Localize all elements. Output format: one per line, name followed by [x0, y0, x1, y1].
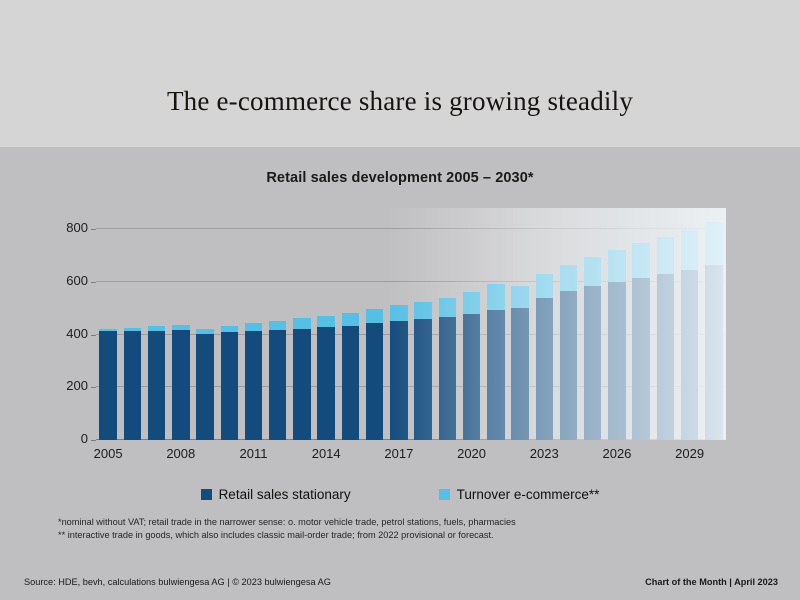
- x-tick-label: 2023: [519, 446, 569, 461]
- y-tick-label: 600: [28, 273, 88, 288]
- legend-swatch-icon: [439, 489, 450, 500]
- bar-segment-stationary: [632, 278, 649, 440]
- x-tick-label: 2026: [592, 446, 642, 461]
- bar-group[interactable]: [317, 316, 334, 440]
- bar-group[interactable]: [560, 265, 577, 440]
- bar-segment-stationary: [172, 330, 189, 440]
- bar-group[interactable]: [342, 313, 359, 440]
- bar-segment-stationary: [536, 298, 553, 440]
- bar-segment-ecommerce: [632, 243, 649, 278]
- bar-segment-stationary: [439, 317, 456, 440]
- bar-segment-ecommerce: [560, 265, 577, 291]
- bar-segment-stationary: [681, 270, 698, 440]
- bar-segment-ecommerce: [269, 321, 286, 330]
- bar-group[interactable]: [221, 326, 238, 440]
- y-tick-label: 0: [28, 431, 88, 446]
- y-tick-label: 800: [28, 220, 88, 235]
- bar-segment-stationary: [705, 265, 722, 440]
- bar-segment-stationary: [124, 331, 141, 440]
- bar-segment-ecommerce: [681, 230, 698, 270]
- bar-group[interactable]: [172, 325, 189, 440]
- bar-segment-stationary: [463, 314, 480, 440]
- bar-segment-ecommerce: [414, 302, 431, 319]
- bar-segment-ecommerce: [245, 323, 262, 330]
- bar-segment-ecommerce: [463, 292, 480, 314]
- bar-group[interactable]: [632, 243, 649, 440]
- issue-label: Chart of the Month | April 2023: [645, 577, 778, 587]
- y-tick-mark: [91, 440, 96, 441]
- bar-segment-ecommerce: [317, 316, 334, 328]
- bar-segment-stationary: [390, 321, 407, 440]
- legend-item[interactable]: Turnover e-commerce**: [439, 487, 600, 502]
- x-tick-label: 2005: [83, 446, 133, 461]
- bar-group[interactable]: [584, 257, 601, 440]
- bar-segment-stationary: [148, 331, 165, 440]
- x-tick-label: 2017: [374, 446, 424, 461]
- bar-group[interactable]: [196, 329, 213, 440]
- bar-segment-stationary: [608, 282, 625, 440]
- bar-segment-stationary: [196, 334, 213, 441]
- bar-group[interactable]: [269, 321, 286, 440]
- bar-group[interactable]: [293, 318, 310, 440]
- bar-segment-ecommerce: [536, 274, 553, 298]
- bar-group[interactable]: [366, 309, 383, 440]
- legend-label: Retail sales stationary: [219, 487, 351, 502]
- bar-segment-stationary: [414, 319, 431, 440]
- bar-segment-ecommerce: [390, 305, 407, 321]
- bar-group[interactable]: [705, 222, 722, 440]
- bar-segment-ecommerce: [608, 250, 625, 282]
- bar-segment-ecommerce: [439, 298, 456, 317]
- bar-group[interactable]: [608, 250, 625, 440]
- bar-segment-ecommerce: [293, 318, 310, 328]
- chart-area: in billion euros 0200400600800 200520082…: [0, 200, 800, 500]
- bar-segment-ecommerce: [584, 257, 601, 286]
- chart-title: Retail sales development 2005 – 2030*: [0, 170, 800, 186]
- footer-bar: Source: HDE, bevh, calculations bulwieng…: [0, 568, 800, 600]
- chart-legend: Retail sales stationaryTurnover e-commer…: [0, 487, 800, 502]
- bar-group[interactable]: [681, 230, 698, 440]
- bar-segment-ecommerce: [657, 237, 674, 274]
- bar-segment-ecommerce: [99, 329, 116, 331]
- footnote-line-1: *nominal without VAT; retail trade in th…: [58, 516, 516, 529]
- bar-segment-stationary: [269, 330, 286, 440]
- y-tick-label: 400: [28, 326, 88, 341]
- bar-segment-ecommerce: [342, 313, 359, 326]
- header-band: [0, 0, 800, 147]
- bar-group[interactable]: [536, 274, 553, 440]
- bar-group[interactable]: [99, 329, 116, 440]
- bar-segment-stationary: [584, 286, 601, 440]
- bar-segment-ecommerce: [366, 309, 383, 323]
- footnote-line-2: ** interactive trade in goods, which als…: [58, 529, 516, 542]
- x-tick-label: 2014: [301, 446, 351, 461]
- footnotes: *nominal without VAT; retail trade in th…: [58, 516, 516, 542]
- source-credit: Source: HDE, bevh, calculations bulwieng…: [24, 577, 331, 587]
- gridline: [96, 228, 726, 229]
- bar-segment-ecommerce: [511, 286, 528, 308]
- plot-area: [96, 208, 726, 440]
- bar-group[interactable]: [390, 305, 407, 440]
- y-tick-label: 200: [28, 378, 88, 393]
- x-tick-label: 2029: [665, 446, 715, 461]
- bar-segment-ecommerce: [705, 222, 722, 265]
- bar-segment-stationary: [560, 291, 577, 440]
- bar-segment-ecommerce: [172, 325, 189, 330]
- bar-segment-stationary: [366, 323, 383, 440]
- bar-segment-ecommerce: [124, 328, 141, 331]
- bar-group[interactable]: [511, 286, 528, 440]
- x-tick-label: 2011: [229, 446, 279, 461]
- bar-group[interactable]: [414, 302, 431, 440]
- bar-segment-stationary: [657, 274, 674, 440]
- bar-group[interactable]: [487, 284, 504, 440]
- bar-segment-ecommerce: [221, 326, 238, 332]
- bar-group[interactable]: [124, 328, 141, 440]
- bar-segment-stationary: [293, 329, 310, 440]
- legend-item[interactable]: Retail sales stationary: [201, 487, 351, 502]
- bar-segment-stationary: [487, 310, 504, 440]
- bar-group[interactable]: [245, 323, 262, 440]
- bar-segment-stationary: [245, 331, 262, 440]
- bar-segment-ecommerce: [148, 326, 165, 330]
- slide-canvas: The e-commerce share is growing steadily…: [0, 0, 800, 600]
- legend-swatch-icon: [201, 489, 212, 500]
- x-tick-label: 2020: [447, 446, 497, 461]
- bar-group[interactable]: [439, 298, 456, 440]
- bar-group[interactable]: [657, 237, 674, 440]
- page-title: The e-commerce share is growing steadily: [0, 86, 800, 117]
- bar-segment-stationary: [342, 326, 359, 440]
- x-tick-label: 2008: [156, 446, 206, 461]
- bar-segment-stationary: [511, 308, 528, 440]
- bar-group[interactable]: [463, 292, 480, 440]
- bar-group[interactable]: [148, 326, 165, 440]
- bar-segment-ecommerce: [196, 329, 213, 333]
- bar-segment-stationary: [317, 327, 334, 440]
- bar-segment-ecommerce: [487, 284, 504, 310]
- bar-segment-stationary: [99, 331, 116, 440]
- bar-segment-stationary: [221, 332, 238, 440]
- legend-label: Turnover e-commerce**: [457, 487, 600, 502]
